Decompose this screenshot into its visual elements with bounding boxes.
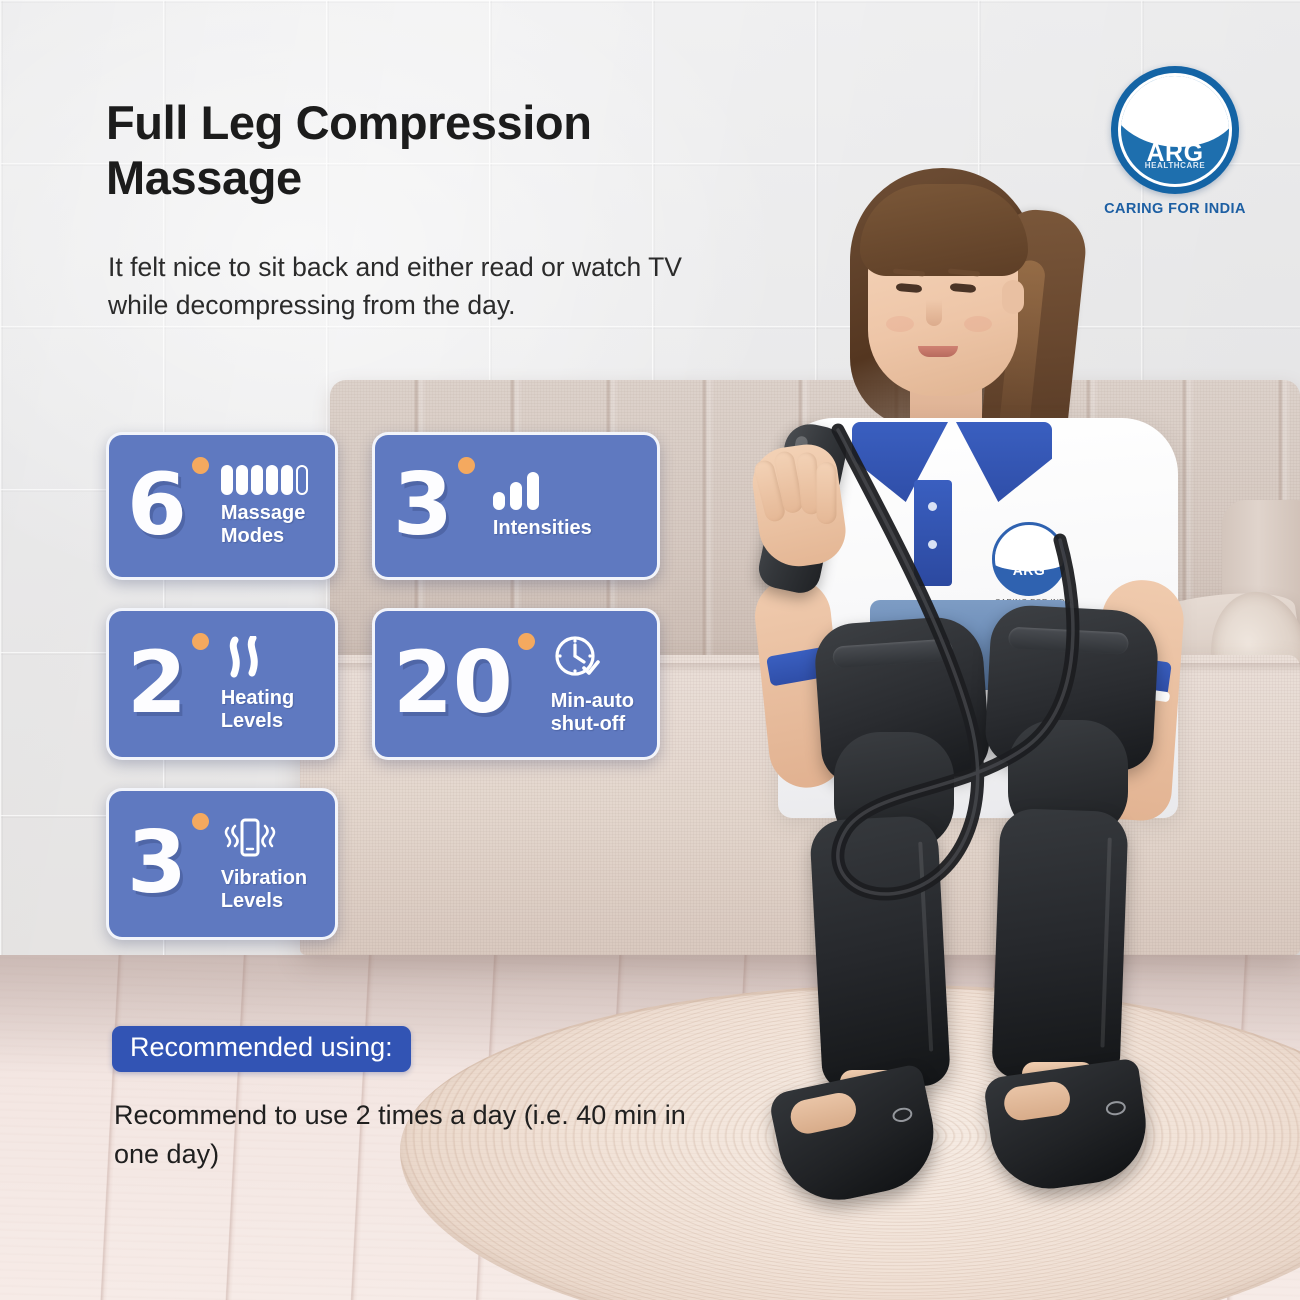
recommended-using-badge: Recommended using:: [112, 1026, 411, 1072]
accent-dot-icon: [192, 813, 209, 830]
air-hose: [760, 420, 1240, 1070]
foot-wrap-left: [767, 1063, 944, 1211]
registered-trademark-icon: ®: [1199, 132, 1206, 142]
brand-logo: ARG HEALTHCARE ® CARING FOR INDIA: [1100, 66, 1250, 217]
brand-logo-subtitle: HEALTHCARE: [1121, 161, 1229, 170]
feature-number: 2: [127, 644, 187, 723]
feature-number: 3: [393, 466, 453, 545]
accent-dot-icon: [192, 633, 209, 650]
heat-waves-icon: [221, 636, 267, 680]
foot-opening: [1002, 1080, 1072, 1123]
feature-label: Heating Levels: [221, 687, 335, 732]
foot-logo-badge-icon: [1105, 1100, 1127, 1117]
feature-label: Intensities: [493, 517, 592, 539]
foot-opening: [788, 1090, 860, 1137]
brand-logo-wave-shape: [1118, 73, 1232, 147]
feature-card-heating-levels[interactable]: 2 Heating Levels: [106, 608, 338, 760]
signal-bars-icon: [493, 472, 539, 510]
feature-number: 3: [127, 824, 187, 903]
feature-card-massage-modes[interactable]: 6 Massage Modes: [106, 432, 338, 580]
accent-dot-icon: [518, 633, 535, 650]
accent-dot-icon: [458, 457, 475, 474]
clock-check-icon: [551, 633, 603, 683]
feature-card-vibration-levels[interactable]: 3 Vibration Levels: [106, 788, 338, 940]
feature-number: 20: [393, 644, 513, 723]
brand-tagline: CARING FOR INDIA: [1100, 201, 1250, 217]
vibration-icon: [221, 816, 277, 860]
feature-card-auto-shutoff[interactable]: 20 Min-auto shut-off: [372, 608, 660, 760]
feature-label: Min-auto shut-off: [551, 690, 657, 735]
recommendation-text: Recommend to use 2 times a day (i.e. 40 …: [114, 1096, 714, 1175]
brand-logo-ring: ARG HEALTHCARE ®: [1118, 73, 1232, 187]
feature-number: 6: [127, 466, 187, 545]
battery-bars-icon: [221, 465, 308, 495]
feature-card-intensities[interactable]: 3 Intensities: [372, 432, 660, 580]
foot-logo-badge-icon: [891, 1106, 913, 1124]
page-subtitle: It felt nice to sit back and either read…: [108, 248, 708, 325]
foot-wrap-right: [983, 1058, 1154, 1197]
feature-label: Massage Modes: [221, 502, 335, 547]
brand-logo-mark-icon: ARG HEALTHCARE ®: [1111, 66, 1239, 194]
accent-dot-icon: [192, 457, 209, 474]
page-title: Full Leg Compression Massage: [106, 96, 746, 205]
feature-label: Vibration Levels: [221, 867, 335, 912]
